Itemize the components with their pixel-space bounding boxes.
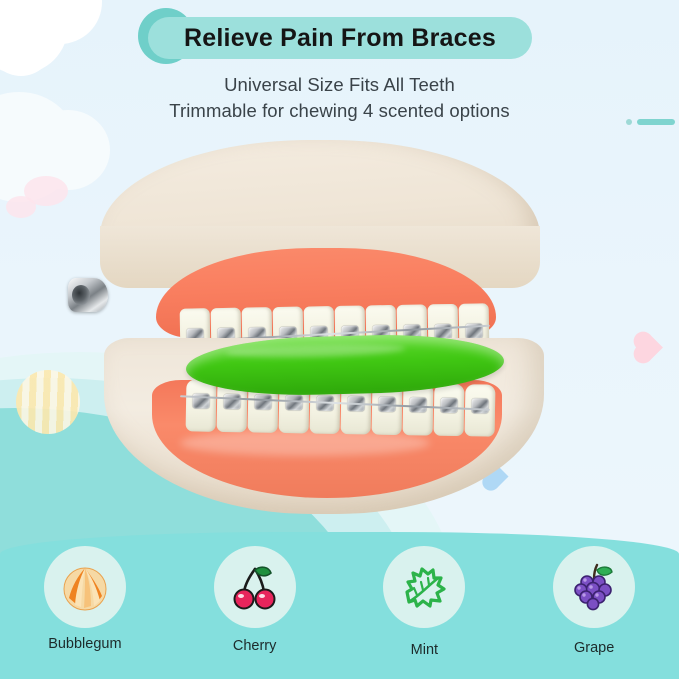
wax-highlight [225, 342, 405, 359]
flavor-label: Grape [574, 640, 614, 656]
flavor-item-bubblegum[interactable]: Bubblegum [0, 546, 170, 666]
flavor-icon-circle [383, 546, 465, 628]
flavor-item-grape[interactable]: Grape [509, 546, 679, 666]
cherry-icon [229, 561, 281, 613]
tooth [434, 384, 465, 437]
flavor-icon-circle [214, 546, 296, 628]
grape-cluster-icon [568, 561, 620, 613]
flavor-icon-circle [553, 546, 635, 628]
mint-leaf-icon [399, 562, 449, 612]
flavor-label: Mint [411, 642, 438, 658]
tooth [186, 379, 217, 432]
product-image: Relieve Pain From Braces Universal Size … [0, 0, 679, 679]
bracket-icon [223, 394, 240, 409]
flavor-list: Bubblegum Cherry [0, 546, 679, 666]
hinge-icon [68, 278, 108, 312]
bracket-icon [254, 394, 271, 409]
flavor-label: Bubblegum [48, 636, 121, 652]
flavor-item-mint[interactable]: Mint [340, 546, 510, 666]
dental-model [60, 130, 620, 520]
page-title: Relieve Pain From Braces [184, 24, 496, 53]
tooth [465, 384, 496, 437]
bracket-icon [440, 398, 457, 413]
flavor-icon-circle [44, 546, 126, 628]
flavor-label: Cherry [233, 638, 277, 654]
subtitle-line-2: Trimmable for chewing 4 scented options [0, 100, 679, 122]
title-banner: Relieve Pain From Braces [148, 17, 532, 59]
subtitle-line-1: Universal Size Fits All Teeth [0, 74, 679, 96]
bubblegum-ball-icon [58, 560, 112, 614]
bracket-icon [285, 395, 302, 410]
bracket-icon [471, 398, 488, 413]
pink-blob [6, 196, 36, 218]
flavor-item-cherry[interactable]: Cherry [170, 546, 340, 666]
